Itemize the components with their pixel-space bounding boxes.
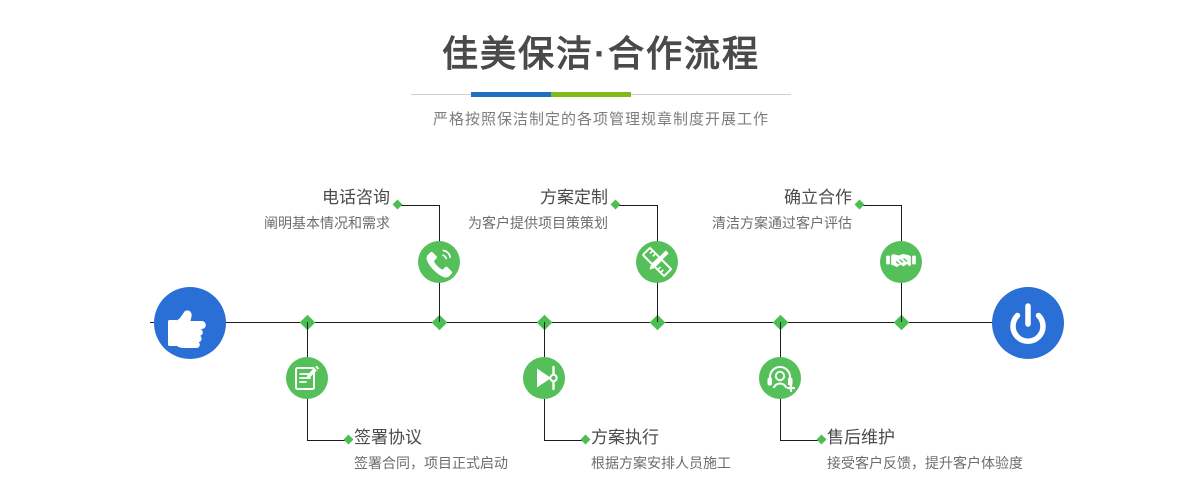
connector-elbow-step-4: [544, 440, 586, 441]
step-label-step-2: 签署协议 签署合同，项目正式启动: [354, 427, 614, 473]
header: 佳美保洁·合作流程 严格按照保洁制定的各项管理规章制度开展工作: [0, 30, 1202, 129]
phone-call-icon: [418, 241, 460, 283]
step-icon-step-6[interactable]: [759, 357, 801, 399]
step-desc: 接受客户反馈，提升客户体验度: [827, 453, 1107, 473]
connector-tip-step-5: [855, 200, 865, 210]
timeline-start-endpoint: [154, 287, 226, 359]
step-desc: 为客户提供项目策策划: [352, 213, 608, 233]
page-title: 佳美保洁·合作流程: [0, 30, 1202, 78]
step-icon-step-5[interactable]: [880, 241, 922, 283]
connector-elbow-step-6: [780, 440, 822, 441]
timeline-end-endpoint: [992, 287, 1064, 359]
timeline-axis: [150, 322, 1052, 323]
page-subtitle: 严格按照保洁制定的各项管理规章制度开展工作: [0, 108, 1202, 129]
step-label-step-6: 售后维护 接受客户反馈，提升客户体验度: [827, 427, 1107, 473]
step-title: 售后维护: [827, 427, 1107, 449]
play-execute-icon: [523, 357, 565, 399]
power-icon: [992, 287, 1064, 359]
step-label-step-4: 方案执行 根据方案安排人员施工: [591, 427, 851, 473]
title-divider: [411, 94, 791, 95]
step-title: 签署协议: [354, 427, 614, 449]
document-edit-icon: [286, 357, 328, 399]
step-label-step-3: 方案定制 为客户提供项目策策划: [352, 187, 608, 233]
flowchart-canvas: 佳美保洁·合作流程 严格按照保洁制定的各项管理规章制度开展工作 电话: [0, 0, 1202, 502]
step-icon-step-2[interactable]: [286, 357, 328, 399]
handshake-icon: [880, 241, 922, 283]
step-title: 方案执行: [591, 427, 851, 449]
connector-tip-step-2: [344, 435, 354, 445]
step-icon-step-4[interactable]: [523, 357, 565, 399]
headset-support-add-icon: [759, 357, 801, 399]
connector-elbow-step-2: [307, 440, 349, 441]
step-label-step-5: 确立合作 清洁方案通过客户评估: [596, 187, 852, 233]
step-desc: 根据方案安排人员施工: [591, 453, 851, 473]
step-desc: 签署合同，项目正式启动: [354, 453, 614, 473]
step-icon-step-1[interactable]: [418, 241, 460, 283]
step-title: 方案定制: [352, 187, 608, 209]
divider-segment-green: [551, 92, 631, 97]
thumbs-up-pointing-hand-icon: [154, 287, 226, 359]
divider-segment-blue: [471, 92, 551, 97]
step-desc: 清洁方案通过客户评估: [596, 213, 852, 233]
step-icon-step-3[interactable]: [636, 241, 678, 283]
ruler-pencil-icon: [636, 241, 678, 283]
connector-elbow-step-5: [860, 205, 902, 206]
step-title: 确立合作: [596, 187, 852, 209]
